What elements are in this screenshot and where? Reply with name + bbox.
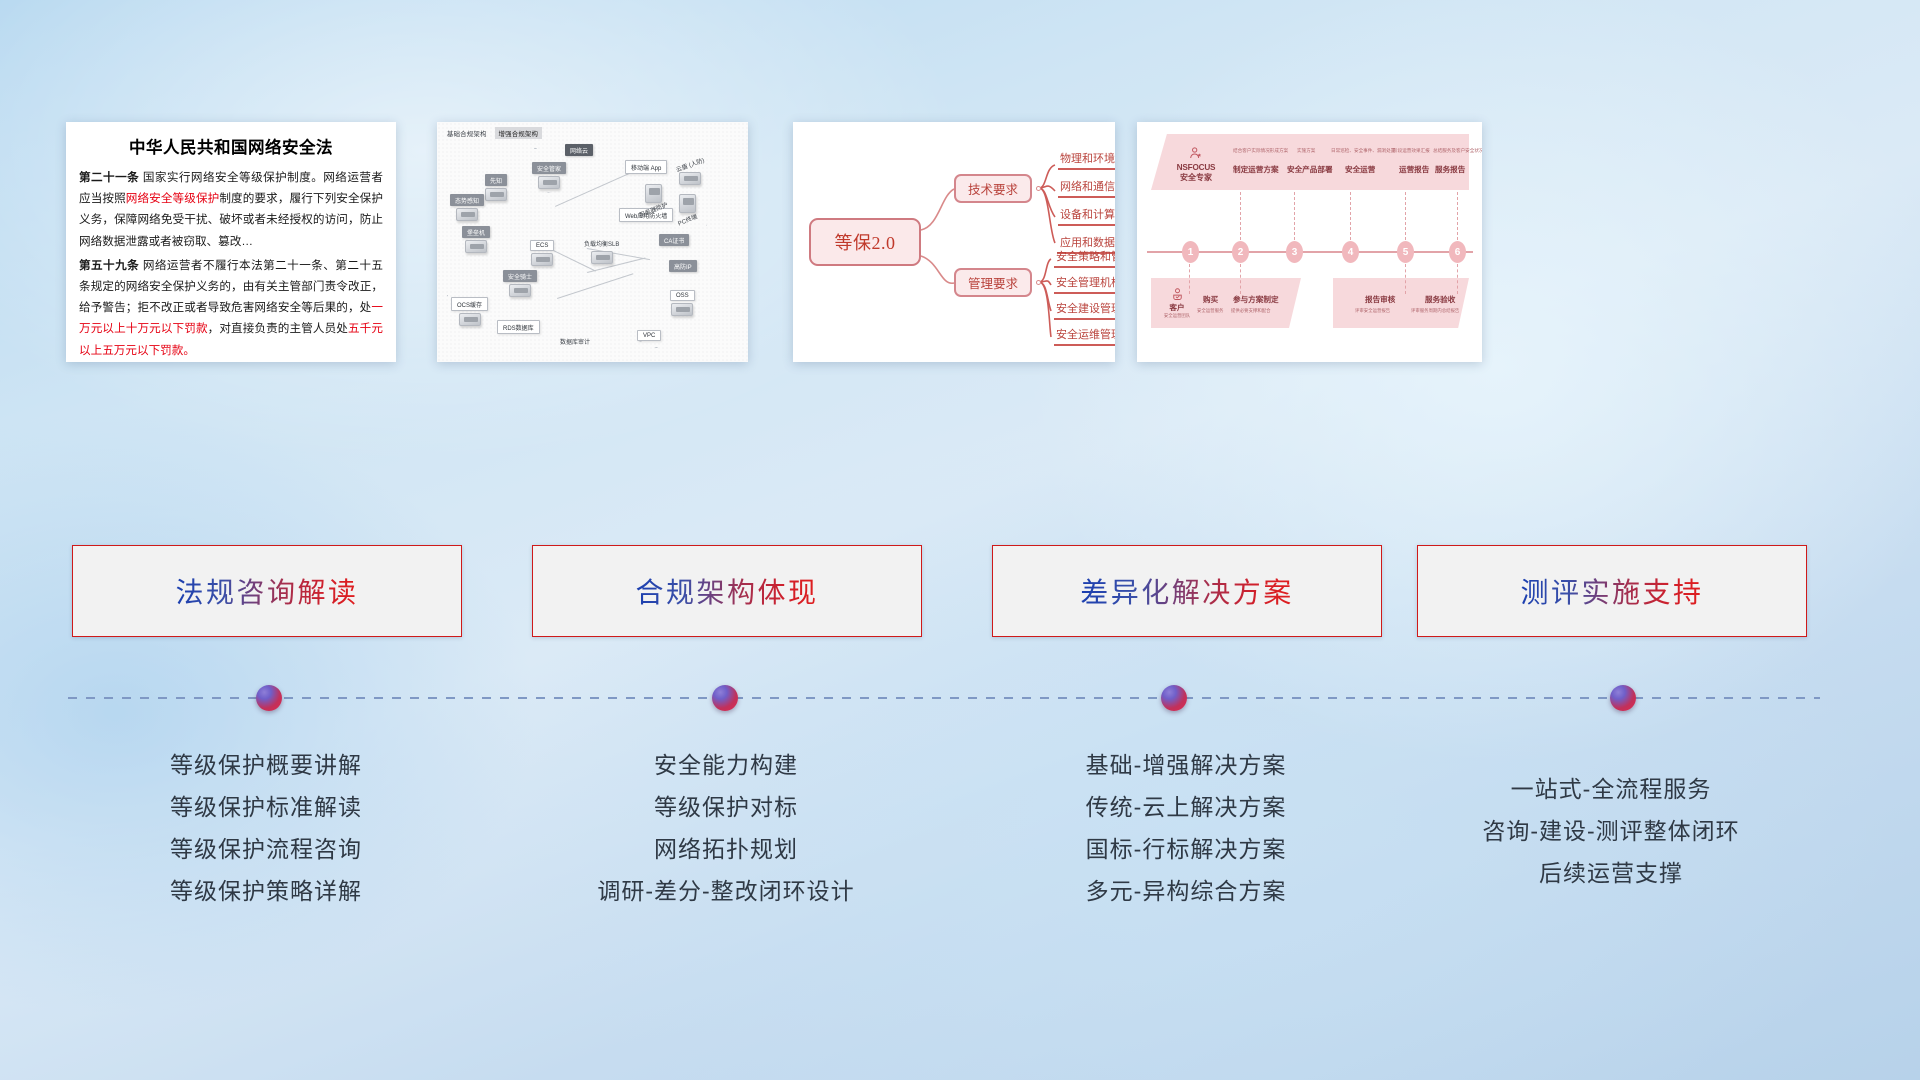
- mindmap-leaf: 网络和通信安全: [1058, 178, 1115, 198]
- mindmap-root: 等保2.0: [809, 218, 921, 266]
- arch-node-label: 高防IP: [669, 260, 697, 272]
- arch-node-label: 堡垒机: [462, 226, 490, 238]
- law-article-59: 第五十九条 网络运营者不履行本法第二十一条、第二十五条规定的网络安全保护义务的，…: [79, 255, 383, 361]
- arch-node: 服务器防护: [633, 182, 673, 215]
- timeline-stem: [1350, 192, 1351, 240]
- list-item: 安全能力构建: [530, 745, 922, 787]
- mindmap-leaf: 安全建设管理: [1054, 300, 1115, 320]
- bottom-step-caption: 购买: [1203, 294, 1218, 305]
- customer-label: 客户: [1157, 302, 1197, 313]
- list-item: 调研-差分-整改闭环设计: [530, 871, 922, 913]
- detail-column-3: 基础-增强解决方案 传统-云上解决方案 国标-行标解决方案 多元-异构综合方案: [990, 745, 1382, 912]
- timeline-node[interactable]: 5: [1397, 241, 1414, 263]
- law-article-59-text-b: ，对直接负责的主管人员处: [208, 322, 348, 335]
- arch-node: 数据库审计: [555, 335, 595, 347]
- timeline-node[interactable]: 2: [1232, 241, 1249, 263]
- law-article-21-label: 第二十一条: [79, 171, 139, 184]
- arch-node: 移动端 App: [625, 160, 667, 174]
- arch-node-label: 态势感知: [450, 194, 484, 206]
- banner-row: 法规咨询解读 合规架构体现 差异化解决方案 测评实施支持: [0, 545, 1920, 640]
- axis-marker-dot[interactable]: [1161, 685, 1187, 711]
- arch-node: 云盾 (人防): [670, 158, 710, 185]
- timeline-dashed-axis: [68, 697, 1820, 699]
- bottom-step-sub: 评审服务周期内总结报告: [1411, 308, 1459, 314]
- architecture-canvas: 基础合规架构 增强合规架构 网络云 安全管家: [437, 122, 748, 362]
- axis-marker-dot[interactable]: [256, 685, 282, 711]
- arch-node-label: ECS: [530, 240, 554, 251]
- axis-marker-dot[interactable]: [1610, 685, 1636, 711]
- mindmap-branch-management: 管理要求: [954, 268, 1032, 297]
- detail-column-2: 安全能力构建 等级保护对标 网络拓扑规划 调研-差分-整改闭环设计: [530, 745, 922, 912]
- tab-basic-architecture[interactable]: 基础合规架构: [443, 127, 491, 139]
- list-item: 多元-异构综合方案: [990, 871, 1382, 913]
- card-architecture-diagram[interactable]: 基础合规架构 增强合规架构 网络云 安全管家: [437, 122, 748, 362]
- timeline-step-caption: 服务报告: [1435, 164, 1465, 175]
- timeline-canvas: NSFOCUS 安全专家 结合客户实际情况形成方案 制定运营方案 实施方案 安全…: [1137, 122, 1482, 362]
- server-icon: [509, 284, 531, 297]
- server-icon: [538, 176, 560, 189]
- arch-node-label: CA证书: [659, 234, 689, 246]
- arch-node: 负载均衡SLB: [579, 237, 624, 264]
- arch-node: CA证书: [659, 234, 689, 246]
- timeline-step-caption: 制定运营方案: [1233, 164, 1279, 175]
- banner-regulation-consulting[interactable]: 法规咨询解读: [72, 545, 462, 637]
- mindmap-leaf: 安全运维管理: [1054, 326, 1115, 346]
- timeline-stem: [1405, 192, 1406, 240]
- timeline-step-sub: 总结服务及客户安全状况总结: [1433, 148, 1482, 154]
- law-article-21: 第二十一条 国家实行网络安全等级保护制度。网络运营者应当按照网络安全等级保护制度…: [79, 167, 383, 252]
- list-item: 等级保护标准解读: [70, 787, 462, 829]
- list-item: 网络拓扑规划: [530, 829, 922, 871]
- server-icon: [531, 253, 553, 266]
- arch-node: 网络云: [565, 144, 593, 156]
- timeline-step-sub: 日常巡检、安全事件、漏洞处置: [1331, 148, 1395, 154]
- arch-node-label: RDS数据库: [497, 320, 540, 334]
- timeline-stem: [1294, 192, 1295, 240]
- arch-node-label: 网络云: [565, 144, 593, 156]
- list-item: 等级保护流程咨询: [70, 829, 462, 871]
- list-item: 等级保护策略详解: [70, 871, 462, 913]
- list-item: 国标-行标解决方案: [990, 829, 1382, 871]
- tab-enhanced-architecture[interactable]: 增强合规架构: [495, 127, 543, 139]
- mindmap-collapse-dot[interactable]: [1036, 186, 1041, 191]
- poster-canvas: 中华人民共和国网络安全法 第二十一条 国家实行网络安全等级保护制度。网络运营者应…: [0, 0, 1920, 1080]
- law-title: 中华人民共和国网络安全法: [79, 134, 383, 158]
- server-icon: [485, 188, 507, 201]
- law-article-21-highlight: 网络安全等级保护: [126, 192, 220, 205]
- bottom-step-sub: 安全运营服务: [1197, 308, 1223, 314]
- banner-label: 差异化解决方案: [1080, 571, 1294, 611]
- list-item: 等级保护对标: [530, 787, 922, 829]
- arch-node-label: OSS: [670, 290, 695, 301]
- law-document-body: 中华人民共和国网络安全法 第二十一条 国家实行网络安全等级保护制度。网络运营者应…: [66, 122, 396, 361]
- axis-marker-dot[interactable]: [712, 685, 738, 711]
- timeline-stem: [1240, 264, 1241, 294]
- arch-node: 安全骑士: [503, 270, 537, 297]
- arch-node-label: 负载均衡SLB: [579, 237, 624, 249]
- arch-node-label: 移动端 App: [625, 160, 667, 174]
- arch-node: 堡垒机: [462, 226, 490, 253]
- banner-label: 测评实施支持: [1520, 571, 1703, 611]
- timeline-node[interactable]: 6: [1449, 241, 1466, 263]
- list-item: 后续运营支撑: [1415, 853, 1807, 895]
- media-card-row: 中华人民共和国网络安全法 第二十一条 国家实行网络安全等级保护制度。网络运营者应…: [0, 122, 1920, 367]
- mindmap-branch-technical: 技术要求: [954, 174, 1032, 203]
- arch-node-label: OCS缓存: [451, 297, 488, 311]
- customer-sublabel: 安全运营团队: [1157, 313, 1197, 319]
- arch-node-label: 安全管家: [532, 162, 566, 174]
- timeline-step-caption: 安全运营: [1345, 164, 1375, 175]
- bottom-step-caption: 参与方案制定: [1233, 294, 1279, 305]
- mindmap-leaf: 安全策略和管理制度: [1054, 248, 1115, 268]
- mindmap-canvas: 等保2.0 技术要求 物理和环境安全 网络和通信安全: [793, 122, 1115, 362]
- arch-node: 安全管家: [532, 162, 566, 189]
- arch-node: 先知: [485, 174, 507, 201]
- server-icon: [459, 313, 481, 326]
- arch-node-label: VPC: [637, 330, 661, 341]
- banner-label: 法规咨询解读: [175, 571, 358, 611]
- bottom-step-sub: 评审安全运营报告: [1355, 308, 1390, 314]
- timeline-node[interactable]: 4: [1342, 241, 1359, 263]
- bottom-step-caption: 服务验收: [1425, 294, 1455, 305]
- brand-subtitle: 安全专家: [1167, 172, 1225, 183]
- brand-block: NSFOCUS 安全专家: [1167, 146, 1225, 183]
- list-item: 传统-云上解决方案: [990, 787, 1382, 829]
- arch-node: OCS缓存: [451, 297, 488, 326]
- timeline-step-sub: 结合客户实际情况形成方案: [1233, 148, 1288, 154]
- timeline-stem: [1457, 192, 1458, 240]
- mindmap-collapse-dot[interactable]: [1036, 280, 1041, 285]
- server-icon: [591, 251, 613, 264]
- arch-node: 高防IP: [669, 260, 697, 272]
- mindmap-leaf: 设备和计算安全: [1058, 206, 1115, 226]
- detail-column-4: 一站式-全流程服务 咨询-建设-测评整体闭环 后续运营支撑: [1415, 769, 1807, 895]
- customer-block: 客户 安全运营团队: [1157, 287, 1197, 319]
- timeline-stem: [1240, 192, 1241, 240]
- server-icon: [465, 240, 487, 253]
- arch-node-label: 安全骑士: [503, 270, 537, 282]
- banner-compliance-architecture[interactable]: 合规架构体现: [532, 545, 922, 637]
- list-item: 等级保护概要讲解: [70, 745, 462, 787]
- banner-differentiated-solution[interactable]: 差异化解决方案: [992, 545, 1382, 637]
- bottom-step-caption: 报告审核: [1365, 294, 1395, 305]
- bottom-step-sub: 提供必要支撑和配合: [1231, 308, 1271, 314]
- timeline-step-sub: 实施方案: [1297, 148, 1315, 154]
- banner-label: 合规架构体现: [635, 571, 818, 611]
- timeline-node[interactable]: 1: [1182, 241, 1199, 263]
- timeline-stem: [1457, 264, 1458, 294]
- law-article-59-label: 第五十九条: [79, 259, 139, 272]
- storage-icon: [671, 303, 693, 316]
- server-icon: [679, 172, 701, 185]
- expert-person-icon: [1188, 146, 1204, 162]
- banner-assessment-support[interactable]: 测评实施支持: [1417, 545, 1807, 637]
- arch-node: 态势感知: [450, 194, 484, 221]
- architecture-tabs[interactable]: 基础合规架构 增强合规架构: [443, 127, 542, 139]
- arch-node: RDS数据库: [497, 320, 540, 334]
- timeline-step-caption: 运营报告: [1399, 164, 1429, 175]
- server-icon: [456, 208, 478, 221]
- timeline-step-caption: 安全产品部署: [1287, 164, 1333, 175]
- list-item: 咨询-建设-测评整体闭环: [1415, 811, 1807, 853]
- customer-person-icon: [1170, 287, 1185, 302]
- detail-column-1: 等级保护概要讲解 等级保护标准解读 等级保护流程咨询 等级保护策略详解: [70, 745, 462, 912]
- mindmap-leaf: 物理和环境安全: [1058, 150, 1115, 170]
- mindmap-leaf: 安全管理机构和人员: [1054, 274, 1115, 294]
- timeline-stem: [1405, 264, 1406, 294]
- list-item: 基础-增强解决方案: [990, 745, 1382, 787]
- timeline-node[interactable]: 3: [1286, 241, 1303, 263]
- brand-name: NSFOCUS: [1167, 163, 1225, 172]
- arch-node: VPC: [637, 330, 661, 341]
- card-mindmap[interactable]: 等保2.0 技术要求 物理和环境安全 网络和通信安全: [793, 122, 1115, 362]
- arch-node: OSS: [670, 290, 695, 316]
- arch-node-label: 先知: [485, 174, 507, 186]
- timeline-step-sub: 阶段运营效果汇报: [1393, 148, 1430, 154]
- list-item: 一站式-全流程服务: [1415, 769, 1807, 811]
- card-law-document[interactable]: 中华人民共和国网络安全法 第二十一条 国家实行网络安全等级保护制度。网络运营者应…: [66, 122, 396, 362]
- arch-node-label: 数据库审计: [555, 335, 595, 347]
- arch-node: PC终端: [672, 192, 702, 225]
- arch-node: ECS: [530, 240, 554, 266]
- card-service-timeline[interactable]: NSFOCUS 安全专家 结合客户实际情况形成方案 制定运营方案 实施方案 安全…: [1137, 122, 1482, 362]
